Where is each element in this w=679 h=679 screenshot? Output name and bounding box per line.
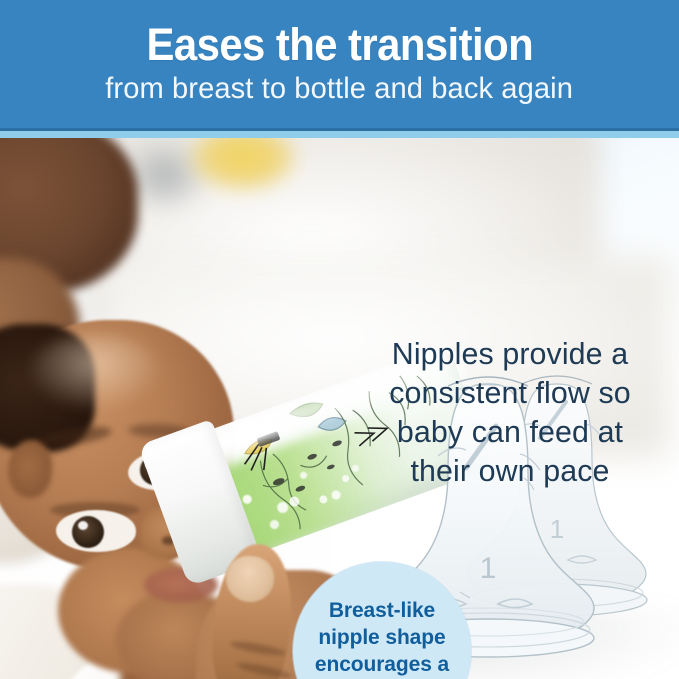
feature-description-line: consistent flow so: [355, 373, 665, 412]
header-inner: Eases the transition from breast to bott…: [0, 0, 679, 128]
feature-description-line: Nipples provide a: [355, 334, 665, 373]
header-accent-strip: [0, 131, 679, 138]
product-feature-panel: Eases the transition from breast to bott…: [0, 0, 679, 679]
header-banner: Eases the transition from breast to bott…: [0, 0, 679, 128]
feature-description-line: their own pace: [355, 451, 665, 490]
feature-description-line: baby can feed at: [355, 412, 665, 451]
nipple-flow-number-front: 1: [480, 552, 497, 585]
page-subtitle: from breast to bottle and back again: [106, 72, 574, 105]
lifestyle-photo: 1 1 Ni: [0, 138, 679, 679]
feature-badge-text: Breast-like nipple shape encourages a pr…: [315, 597, 449, 679]
nipple-flow-number-back: 1: [550, 514, 564, 544]
page-title: Eases the transition: [146, 21, 533, 69]
feature-description: Nipples provide a consistent flow so bab…: [355, 334, 665, 490]
feature-badge-line: encourages a: [315, 651, 449, 678]
feature-badge-line: Breast-like: [315, 597, 449, 624]
feature-badge-line: nipple shape: [315, 624, 449, 651]
